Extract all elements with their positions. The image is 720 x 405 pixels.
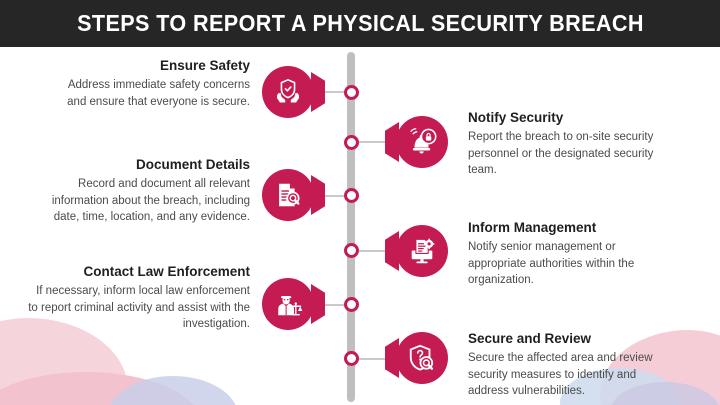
timeline-node-2[interactable]	[344, 135, 359, 150]
badge-notch-4	[385, 231, 399, 271]
step-title-6: Secure and Review	[468, 331, 666, 347]
step-icon-badge-1[interactable]	[262, 66, 314, 118]
step-title-2: Notify Security	[468, 110, 656, 126]
document-magnifier-icon	[273, 180, 303, 210]
step-icon-badge-6[interactable]	[396, 332, 448, 384]
step-title-3: Document Details	[28, 157, 250, 173]
step-body-5: If necessary, inform local law enforceme…	[28, 283, 250, 332]
badge-notch-2	[385, 122, 399, 162]
shield-magnifier-icon	[407, 343, 437, 373]
step-block-5: Contact Law Enforcement If necessary, in…	[28, 264, 250, 332]
badge-notch-5	[311, 284, 325, 324]
step-body-1: Address immediate safety concerns and en…	[60, 77, 250, 110]
timeline-node-5[interactable]	[344, 297, 359, 312]
step-icon-badge-3[interactable]	[262, 169, 314, 221]
step-icon-badge-4[interactable]	[396, 225, 448, 277]
timeline-node-6[interactable]	[344, 351, 359, 366]
step-block-6: Secure and Review Secure the affected ar…	[468, 331, 666, 399]
step-icon-badge-5[interactable]	[262, 278, 314, 330]
step-body-6: Secure the affected area and review secu…	[468, 350, 666, 399]
badge-notch-1	[311, 72, 325, 112]
step-body-4: Notify senior management or appropriate …	[468, 239, 664, 288]
shield-in-hands-icon	[273, 77, 303, 107]
step-title-5: Contact Law Enforcement	[28, 264, 250, 280]
step-block-3: Document Details Record and document all…	[28, 157, 250, 225]
page-title: STEPS TO REPORT A PHYSICAL SECURITY BREA…	[77, 12, 644, 35]
step-title-1: Ensure Safety	[60, 58, 250, 74]
alarm-bell-lock-icon	[407, 127, 437, 157]
timeline-node-4[interactable]	[344, 243, 359, 258]
monitor-report-gear-icon	[407, 236, 437, 266]
header-bar: STEPS TO REPORT A PHYSICAL SECURITY BREA…	[0, 0, 720, 47]
step-body-2: Report the breach to on-site security pe…	[468, 129, 656, 178]
step-icon-badge-2[interactable]	[396, 116, 448, 168]
step-body-3: Record and document all relevant informa…	[28, 176, 250, 225]
step-block-2: Notify Security Report the breach to on-…	[468, 110, 656, 178]
timeline-spine	[347, 52, 355, 402]
badge-notch-3	[311, 175, 325, 215]
step-block-4: Inform Management Notify senior manageme…	[468, 220, 664, 288]
timeline-node-1[interactable]	[344, 85, 359, 100]
step-title-4: Inform Management	[468, 220, 664, 236]
timeline-node-3[interactable]	[344, 188, 359, 203]
step-block-1: Ensure Safety Address immediate safety c…	[60, 58, 250, 110]
police-officer-scales-icon	[273, 289, 303, 319]
badge-notch-6	[385, 338, 399, 378]
decor-blob-pink-bottom-left-2	[0, 372, 200, 405]
infographic-canvas: STEPS TO REPORT A PHYSICAL SECURITY BREA…	[0, 0, 720, 405]
decor-blob-blue-bottom-left	[108, 376, 238, 405]
